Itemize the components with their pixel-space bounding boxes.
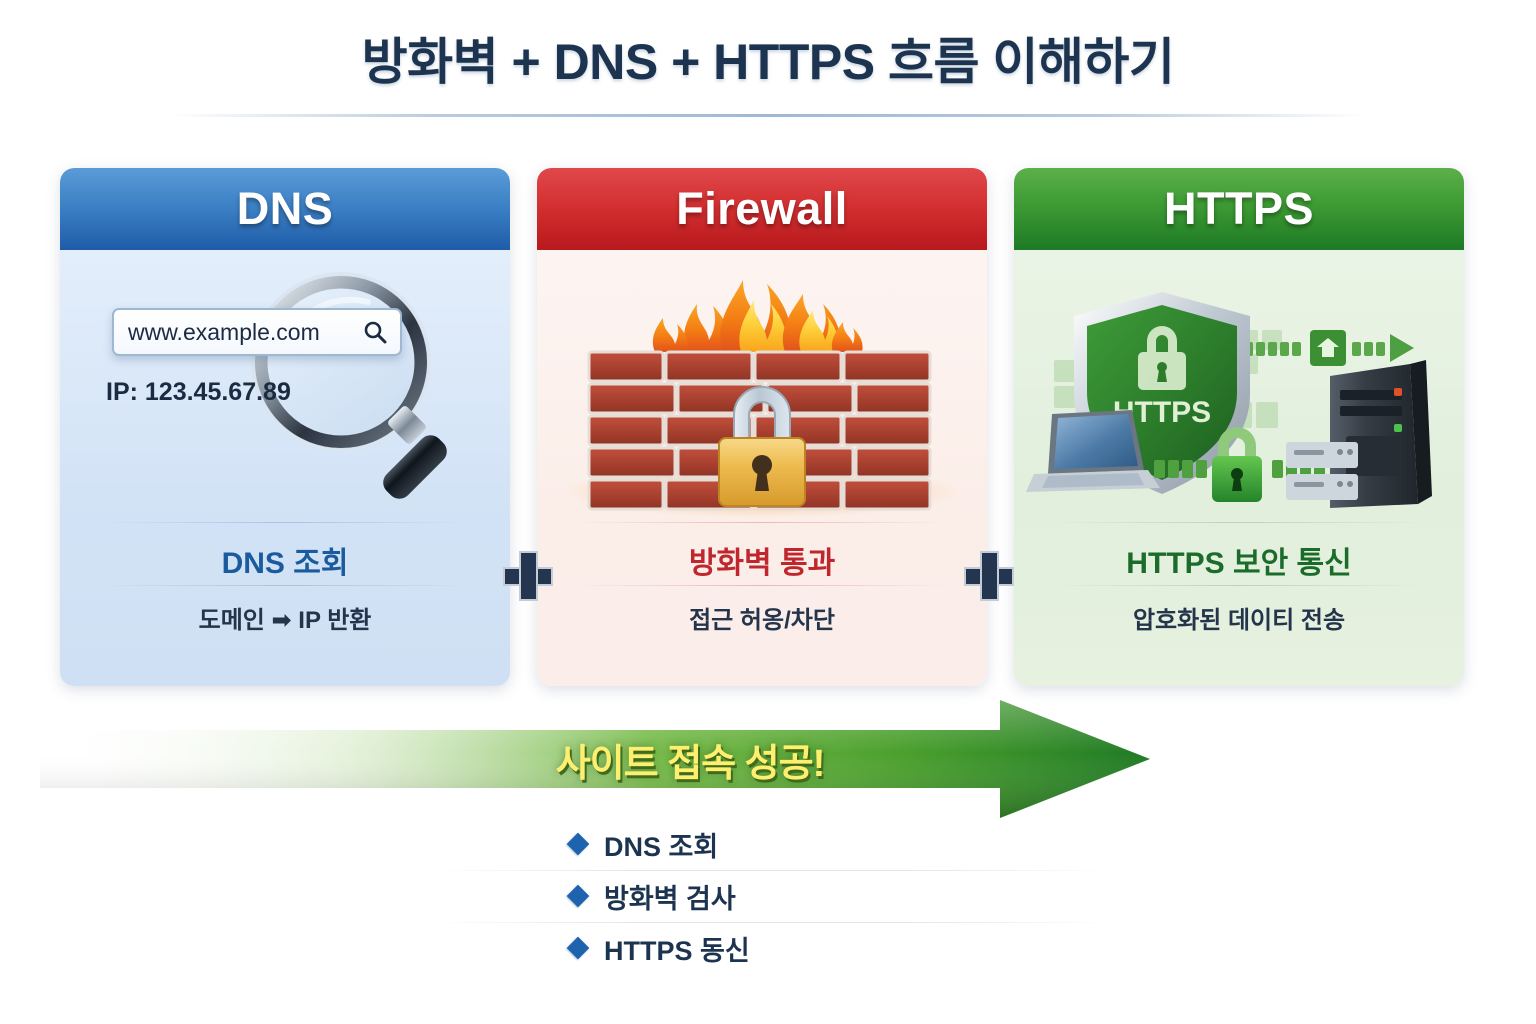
card-dns-divider-top <box>96 522 474 523</box>
card-https-caption: HTTPS 보안 통신 <box>1014 538 1464 582</box>
card-dns-header-label: DNS <box>237 183 334 235</box>
card-firewall-body: 방화벽 통과 접근 허옹/차단 <box>537 250 987 686</box>
card-firewall-divider-bottom <box>573 585 951 586</box>
plus-icon-2 <box>964 551 1014 601</box>
list-item[interactable]: DNS 조회 <box>430 818 1110 870</box>
diamond-bullet-icon <box>567 885 590 908</box>
card-firewall[interactable]: Firewall <box>537 168 987 686</box>
search-input-value: www.example.com <box>128 319 320 346</box>
step-list: DNS 조회 방화벽 검사 HTTPS 동신 <box>430 818 1110 974</box>
search-input[interactable]: www.example.com <box>112 308 402 356</box>
list-item[interactable]: HTTPS 동신 <box>430 922 1110 974</box>
card-dns-body: www.example.com IP: 123.45.67.89 DNS 조회 … <box>60 250 510 686</box>
card-https-header: HTTPS <box>1014 168 1464 250</box>
card-https-divider-bottom <box>1050 585 1428 586</box>
list-item[interactable]: 방화벽 검사 <box>430 870 1110 922</box>
https-shield-server-icon: HTTPS <box>1014 264 1464 532</box>
diamond-bullet-icon <box>567 833 590 856</box>
title-divider <box>168 114 1368 117</box>
card-dns[interactable]: DNS <box>60 168 510 686</box>
card-row: DNS <box>0 168 1536 686</box>
card-https-subcaption: 압호화된 데이티 전송 <box>1014 600 1464 635</box>
card-firewall-divider-top <box>573 522 951 523</box>
title-bar: 방화벽 + DNS + HTTPS 흐름 이해하기 <box>0 22 1536 94</box>
success-arrow: 사이트 접속 성공! <box>40 700 1150 818</box>
plus-icon-1 <box>503 551 553 601</box>
card-firewall-header-label: Firewall <box>676 183 848 235</box>
plus-bar-vertical <box>519 551 538 601</box>
step-label: HTTPS 동신 <box>604 929 750 968</box>
card-firewall-header: Firewall <box>537 168 987 250</box>
card-firewall-subcaption: 접근 허옹/차단 <box>537 600 987 635</box>
card-dns-divider-bottom <box>96 585 474 586</box>
card-dns-caption: DNS 조회 <box>60 538 510 582</box>
card-https[interactable]: HTTPS <box>1014 168 1464 686</box>
card-https-body: HTTPS <box>1014 250 1464 686</box>
success-arrow-label: 사이트 접속 성공! <box>40 700 1150 818</box>
diamond-bullet-icon <box>567 937 590 960</box>
plus-bar-vertical <box>980 551 999 601</box>
card-dns-header: DNS <box>60 168 510 250</box>
card-https-header-label: HTTPS <box>1164 183 1314 235</box>
search-icon[interactable] <box>362 320 388 346</box>
step-label: DNS 조회 <box>604 825 718 864</box>
page-title: 방화벽 + DNS + HTTPS 흐름 이해하기 <box>0 22 1536 94</box>
card-dns-subcaption: 도메인 ➡ IP 반환 <box>60 600 510 635</box>
card-firewall-caption: 방화벽 통과 <box>537 538 987 582</box>
resolved-ip-text: IP: 123.45.67.89 <box>106 378 291 407</box>
brick-wall-flame-lock-icon <box>537 260 987 530</box>
step-label: 방화벽 검사 <box>604 877 736 916</box>
card-https-divider-top <box>1050 522 1428 523</box>
